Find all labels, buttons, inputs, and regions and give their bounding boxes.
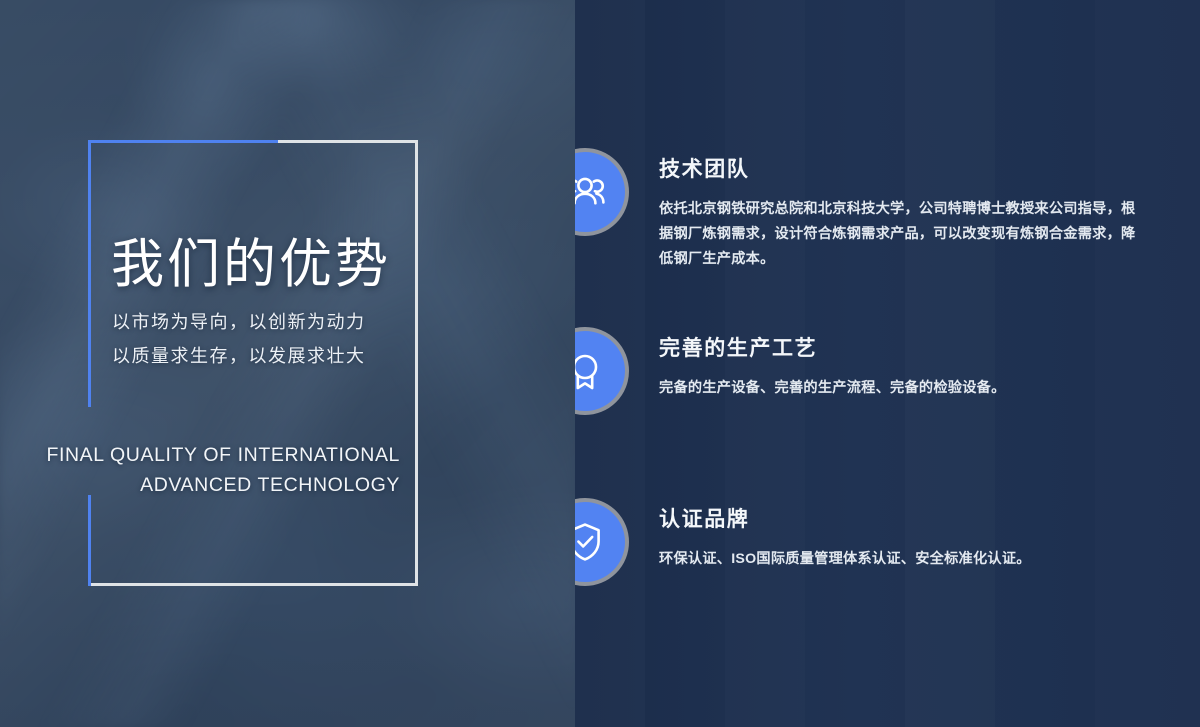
feature-title: 技术团队 — [659, 153, 1149, 183]
feature-title: 认证品牌 — [659, 503, 1149, 533]
frame-edge-top-white — [278, 140, 418, 143]
frame-edge-left-top — [88, 140, 91, 407]
feature-text-block: 技术团队 依托北京钢铁研究总院和北京科技大学，公司特聘博士教授来公司指导，根据钢… — [659, 148, 1149, 272]
page-title: 我们的优势 — [111, 222, 391, 298]
feature-title: 完善的生产工艺 — [659, 332, 1149, 362]
left-panel: 我们的优势 以市场为导向，以创新为动力 以质量求生存，以发展求壮大 FINAL … — [0, 0, 575, 727]
right-panel: 技术团队 依托北京钢铁研究总院和北京科技大学，公司特聘博士教授来公司指导，根据钢… — [575, 0, 1200, 727]
feature-description: 依托北京钢铁研究总院和北京科技大学，公司特聘博士教授来公司指导，根据钢厂炼钢需求… — [659, 197, 1149, 272]
frame-edge-bottom — [88, 583, 418, 586]
users-group-icon — [575, 148, 629, 236]
feature-description: 完备的生产设备、完善的生产流程、完备的检验设备。 — [659, 376, 1149, 401]
feature-item-production-process: 完善的生产工艺 完备的生产设备、完善的生产流程、完备的检验设备。 — [575, 327, 1200, 415]
frame-edge-left-bottom — [88, 495, 91, 586]
english-subtitle-group: FINAL QUALITY OF INTERNATIONAL ADVANCED … — [0, 440, 400, 500]
shield-check-icon — [575, 498, 629, 586]
feature-item-technical-team: 技术团队 依托北京钢铁研究总院和北京科技大学，公司特聘博士教授来公司指导，根据钢… — [575, 148, 1200, 272]
feature-text-block: 认证品牌 环保认证、ISO国际质量管理体系认证、安全标准化认证。 — [659, 498, 1149, 572]
feature-item-certified-brand: 认证品牌 环保认证、ISO国际质量管理体系认证、安全标准化认证。 — [575, 498, 1200, 586]
frame-edge-top-blue — [88, 140, 278, 143]
award-medal-icon — [575, 327, 629, 415]
feature-list: 技术团队 依托北京钢铁研究总院和北京科技大学，公司特聘博士教授来公司指导，根据钢… — [575, 0, 1200, 727]
english-subtitle-line-2: ADVANCED TECHNOLOGY — [0, 470, 400, 500]
advantages-slide: 我们的优势 以市场为导向，以创新为动力 以质量求生存，以发展求壮大 FINAL … — [0, 0, 1200, 727]
english-subtitle-line-1: FINAL QUALITY OF INTERNATIONAL — [0, 440, 400, 470]
tagline-line-1: 以市场为导向，以创新为动力 — [112, 305, 432, 339]
feature-text-block: 完善的生产工艺 完备的生产设备、完善的生产流程、完备的检验设备。 — [659, 327, 1149, 401]
tagline-group: 以市场为导向，以创新为动力 以质量求生存，以发展求壮大 — [112, 305, 432, 373]
tagline-line-2: 以质量求生存，以发展求壮大 — [112, 339, 432, 373]
feature-description: 环保认证、ISO国际质量管理体系认证、安全标准化认证。 — [659, 547, 1149, 572]
